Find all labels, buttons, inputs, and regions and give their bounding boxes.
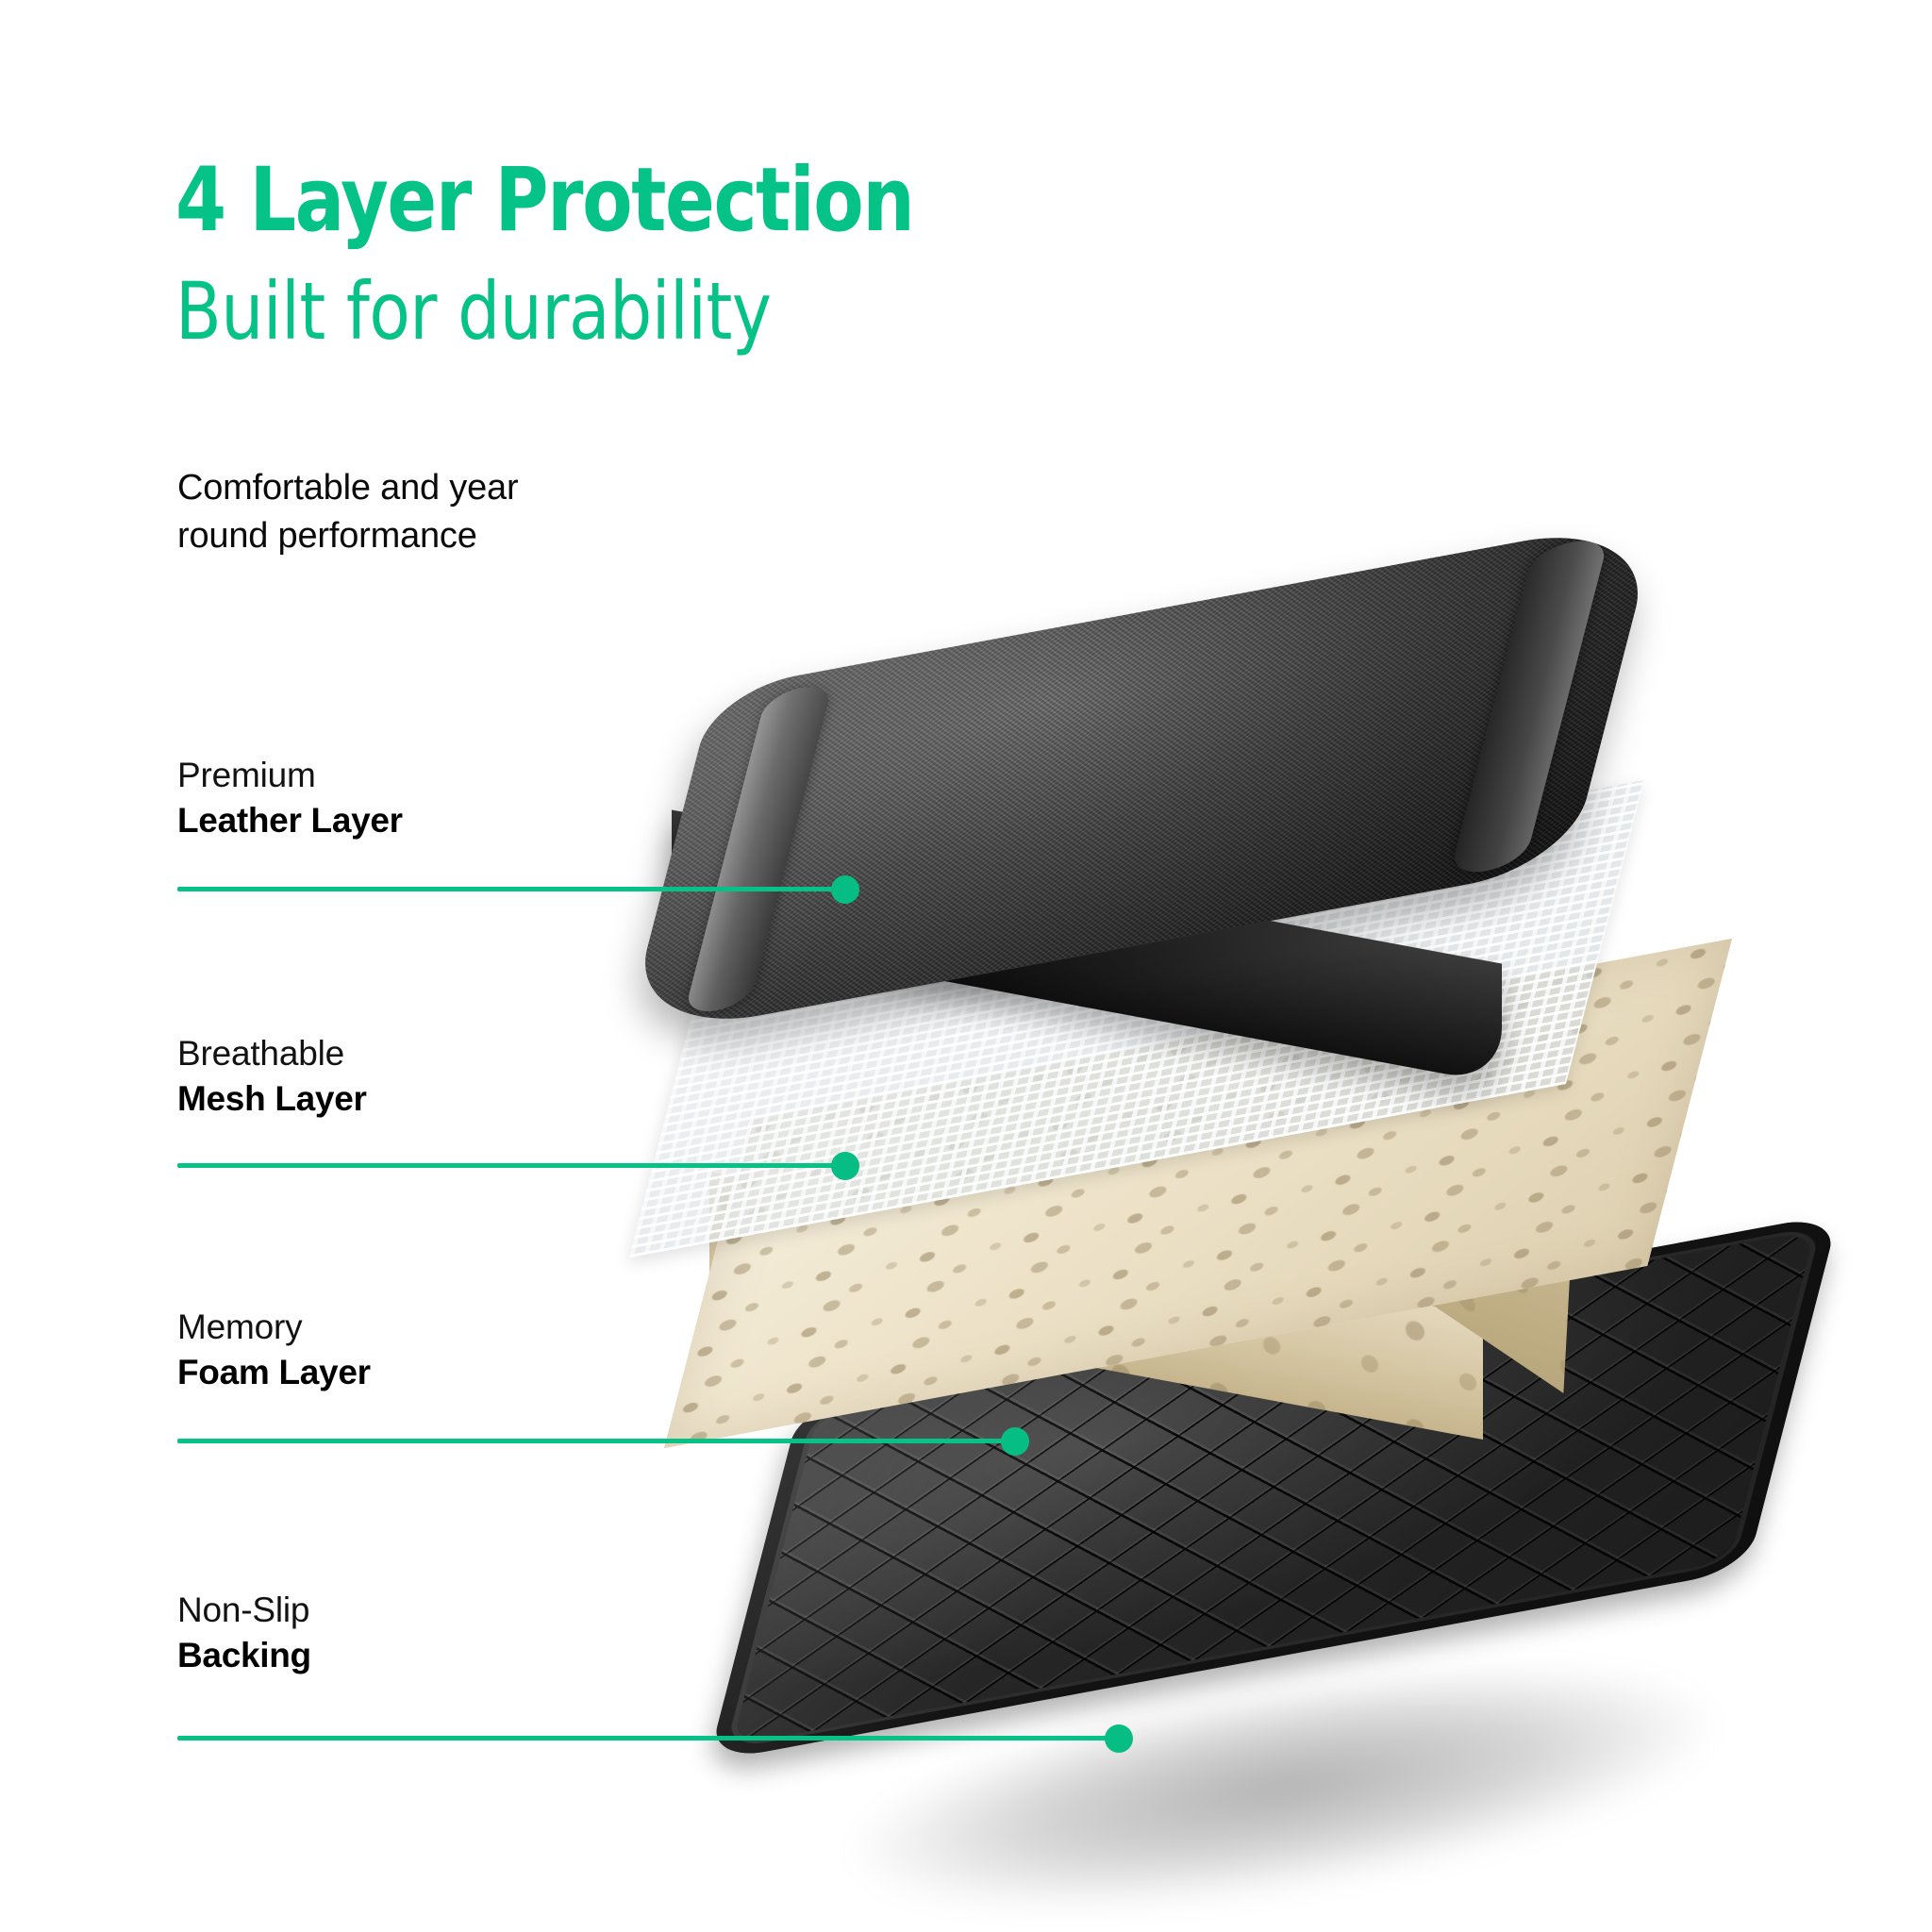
infographic-canvas: 4 Layer Protection Built for durability … xyxy=(0,0,1932,1932)
callout-mesh-qualifier: Breathable xyxy=(177,1033,706,1074)
callout-leather-name: Leather Layer xyxy=(177,800,706,841)
callout-leather-qualifier: Premium xyxy=(177,755,706,796)
callout-foam-qualifier: Memory xyxy=(177,1307,706,1348)
callout-foam[interactable]: Memory Foam Layer xyxy=(177,1307,706,1394)
callout-backing-qualifier: Non-Slip xyxy=(177,1590,706,1631)
leader-line-leather xyxy=(177,887,847,891)
callout-foam-name: Foam Layer xyxy=(177,1352,706,1393)
callout-mesh[interactable]: Breathable Mesh Layer xyxy=(177,1033,706,1121)
leader-dot-leather[interactable] xyxy=(831,875,859,904)
leader-dot-mesh[interactable] xyxy=(831,1152,859,1180)
leader-dot-backing[interactable] xyxy=(1105,1724,1133,1753)
callout-mesh-name: Mesh Layer xyxy=(177,1078,706,1120)
callout-backing-name: Backing xyxy=(177,1635,706,1676)
callout-leather[interactable]: Premium Leather Layer xyxy=(177,755,706,842)
callout-backing[interactable]: Non-Slip Backing xyxy=(177,1590,706,1677)
leader-line-foam xyxy=(177,1439,1017,1443)
leader-dot-foam[interactable] xyxy=(1001,1427,1029,1456)
leader-line-mesh xyxy=(177,1163,847,1168)
leader-line-backing xyxy=(177,1736,1121,1740)
